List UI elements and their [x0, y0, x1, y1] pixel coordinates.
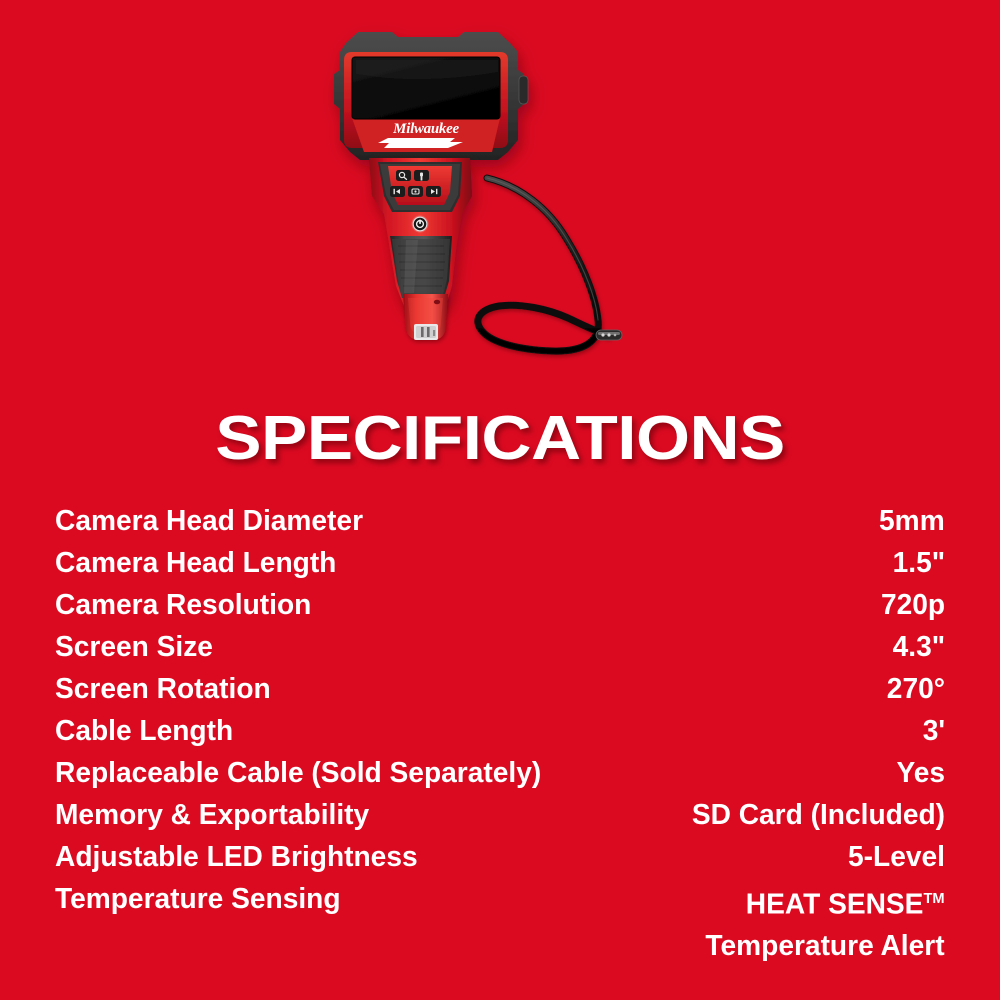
spec-value: 4.3" — [893, 626, 945, 668]
spec-label: Camera Head Length — [55, 542, 336, 584]
table-row: Temperature Sensing HEAT SENSETMTemperat… — [55, 878, 945, 966]
spec-value-second-line: Temperature Alert — [706, 926, 945, 966]
spec-value: 3' — [923, 710, 945, 752]
table-row: Replaceable Cable (Sold Separately) Yes — [55, 752, 945, 794]
table-row: Cable Length 3' — [55, 710, 945, 752]
table-row: Adjustable LED Brightness 5-Level — [55, 836, 945, 878]
spec-value: 5-Level — [848, 836, 945, 878]
spec-value: 270° — [887, 668, 945, 710]
spec-label: Screen Size — [55, 626, 213, 668]
table-row: Camera Resolution 720p — [55, 584, 945, 626]
spec-label: Temperature Sensing — [55, 878, 341, 920]
table-row: Screen Size 4.3" — [55, 626, 945, 668]
camera-head-tip — [596, 330, 622, 340]
table-row: Memory & Exportability SD Card (Included… — [55, 794, 945, 836]
spec-value: 5mm — [879, 500, 945, 542]
rotate-left-button[interactable] — [390, 186, 405, 197]
spec-value: SD Card (Included) — [692, 794, 945, 836]
spec-label: Adjustable LED Brightness — [55, 836, 418, 878]
product-illustration: Milwaukee — [0, 0, 1000, 400]
spec-label: Camera Resolution — [55, 584, 311, 626]
spec-label: Memory & Exportability — [55, 794, 369, 836]
product-image: Milwaukee — [0, 0, 1000, 400]
spec-label: Replaceable Cable (Sold Separately) — [55, 752, 541, 794]
battery-port — [403, 294, 448, 340]
table-row: Camera Head Length 1.5" — [55, 542, 945, 584]
display-head: Milwaukee — [334, 32, 528, 160]
spec-value: HEAT SENSETMTemperature Alert — [706, 878, 945, 966]
handle-assembly — [369, 158, 472, 306]
spec-label: Screen Rotation — [55, 668, 271, 710]
led-light-button[interactable] — [414, 170, 429, 181]
power-button[interactable] — [412, 216, 429, 233]
specifications-page: Milwaukee — [0, 0, 1000, 1000]
rotate-right-button[interactable] — [426, 186, 441, 197]
svg-text:Milwaukee: Milwaukee — [392, 121, 459, 137]
spec-value: 720p — [881, 584, 945, 626]
table-row: Camera Head Diameter 5mm — [55, 500, 945, 542]
spec-label: Cable Length — [55, 710, 233, 752]
spec-label: Camera Head Diameter — [55, 500, 363, 542]
table-row: Screen Rotation 270° — [55, 668, 945, 710]
specifications-table: Camera Head Diameter 5mm Camera Head Len… — [55, 500, 945, 966]
spec-value: Yes — [897, 752, 946, 794]
spec-value: 1.5" — [893, 542, 945, 584]
spec-value-text: HEAT SENSE — [746, 889, 924, 921]
page-title: SPECIFICATIONS — [0, 408, 1000, 470]
capture-button[interactable] — [408, 186, 423, 197]
trademark-symbol: TM — [924, 890, 945, 907]
zoom-button[interactable] — [396, 170, 411, 181]
camera-cable — [478, 178, 608, 351]
